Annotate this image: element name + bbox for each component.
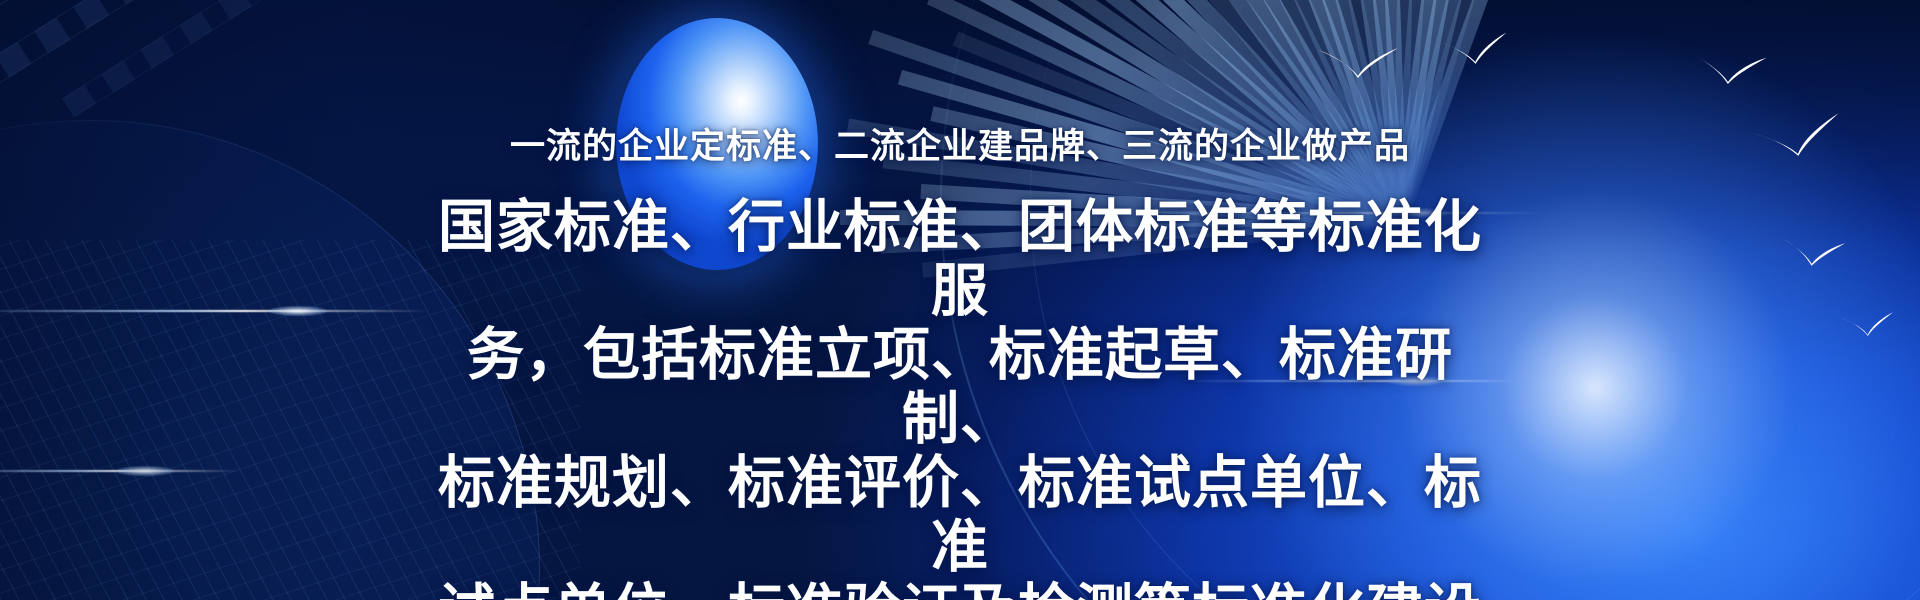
corner-glow (1155, 8, 1920, 600)
glow-ellipse-icon (616, 18, 818, 270)
promo-banner: 一流的企业定标准、二流企业建品牌、三流的企业做产品 国家标准、行业标准、团体标准… (0, 0, 1920, 600)
